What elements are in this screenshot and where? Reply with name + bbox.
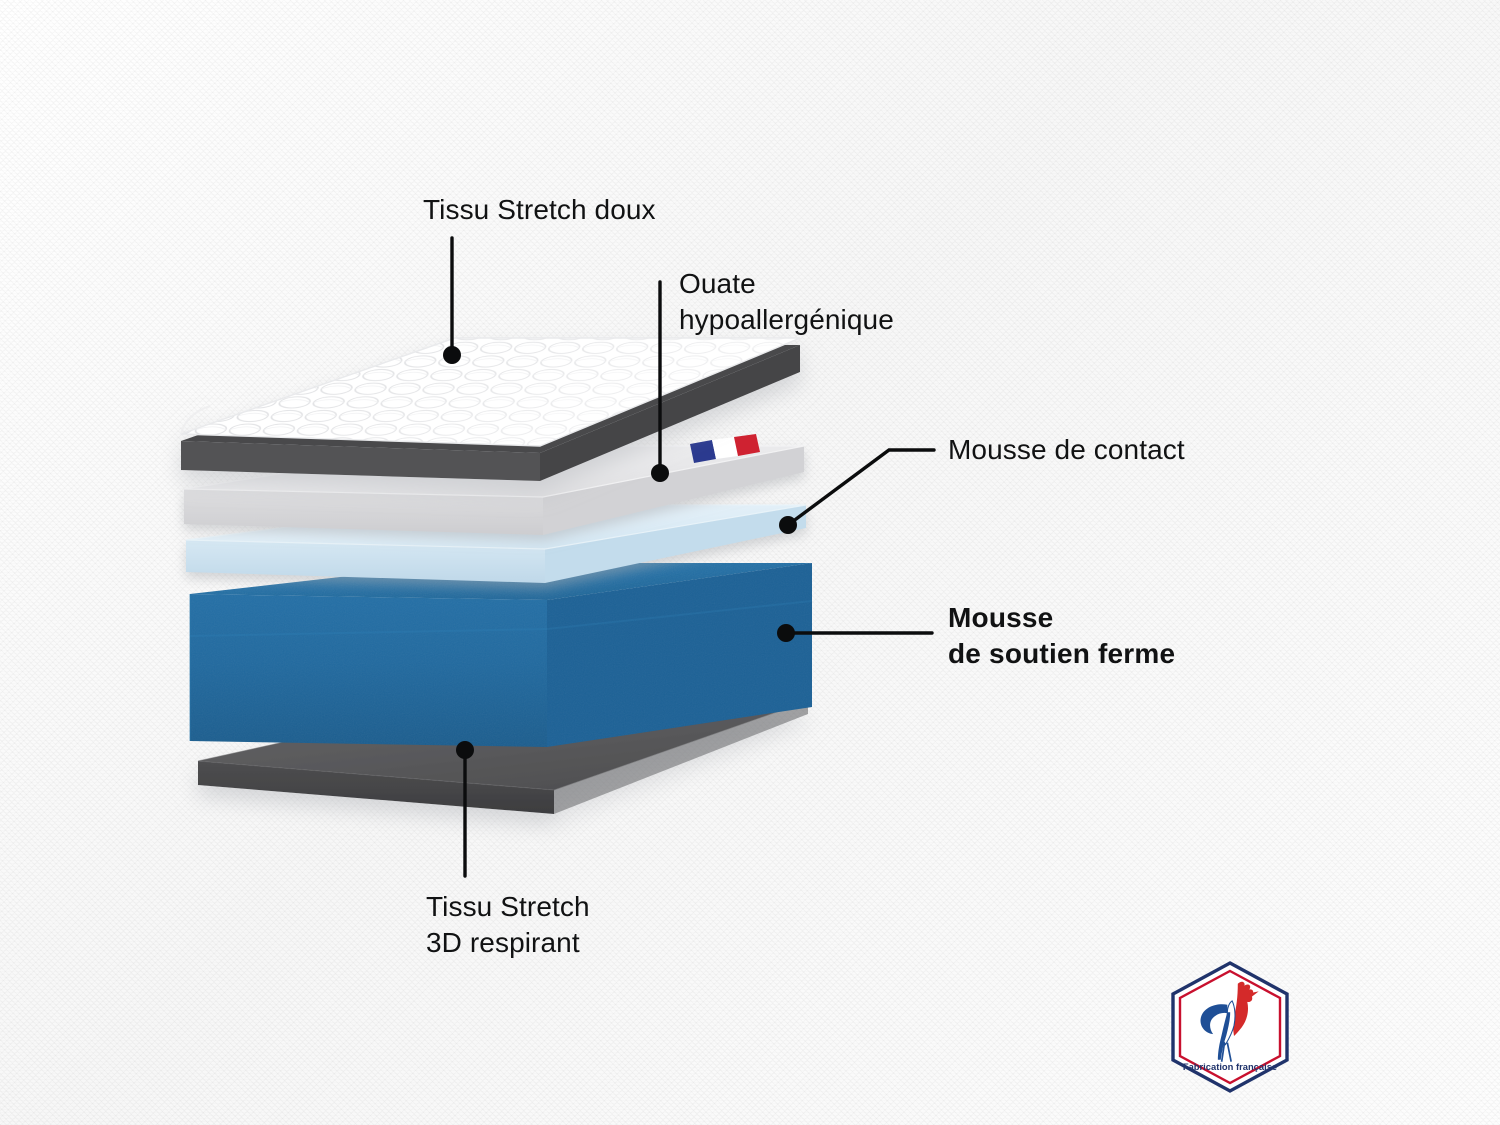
support-foam-layer [190,563,812,747]
label-mousse-de-contact: Mousse de contact [948,432,1185,468]
infographic-canvas: Tissu Stretch doux Ouate hypoallergéniqu… [0,0,1500,1125]
leader-dot-mousse-contact [779,516,797,534]
badge-hexagon-icon: Fabrication française [1168,960,1292,1094]
label-tissu-stretch-doux: Tissu Stretch doux [423,192,656,228]
fabrication-francaise-badge: Fabrication française [1168,960,1292,1094]
leader-dot-tissu-stretch-doux [443,346,461,364]
leader-dot-mousse-soutien [777,624,795,642]
label-ouate-hypoallergenique: Ouate hypoallergénique [679,266,894,338]
label-mousse-de-soutien-ferme: Mousse de soutien ferme [948,600,1175,672]
badge-text: Fabrication française [1183,1061,1277,1072]
mattress-exploded-diagram [0,0,1500,1125]
label-tissu-stretch-3d-respirant: Tissu Stretch 3D respirant [426,889,590,961]
leader-dot-ouate [651,464,669,482]
leader-dot-tissu-3d [456,741,474,759]
